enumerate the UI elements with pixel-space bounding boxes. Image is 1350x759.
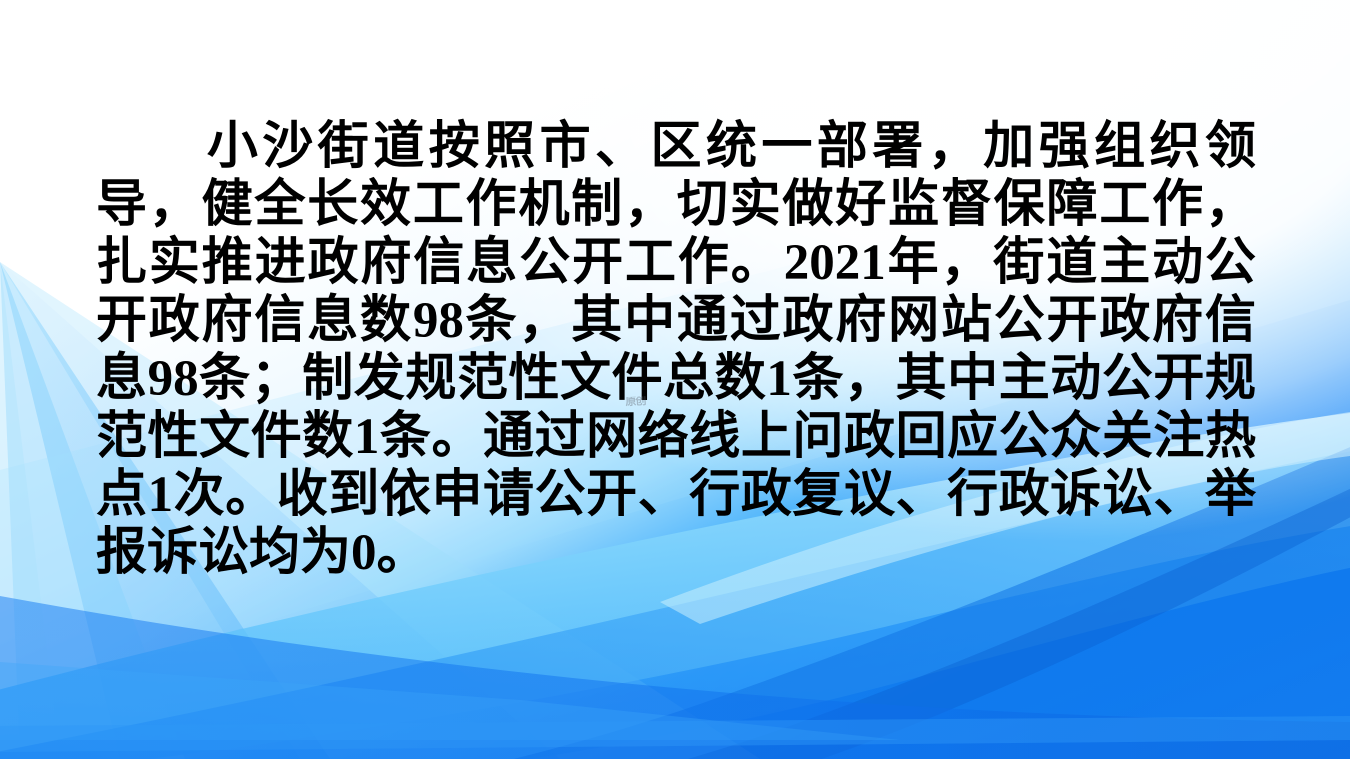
slide-canvas: 小沙街道按照市、区统一部署，加强组织领导，健全长效工作机制，切实做好监督保障工作…: [0, 0, 1350, 759]
slide-body-paragraph: 小沙街道按照市、区统一部署，加强组织领导，健全长效工作机制，切实做好监督保障工作…: [96, 118, 1256, 582]
